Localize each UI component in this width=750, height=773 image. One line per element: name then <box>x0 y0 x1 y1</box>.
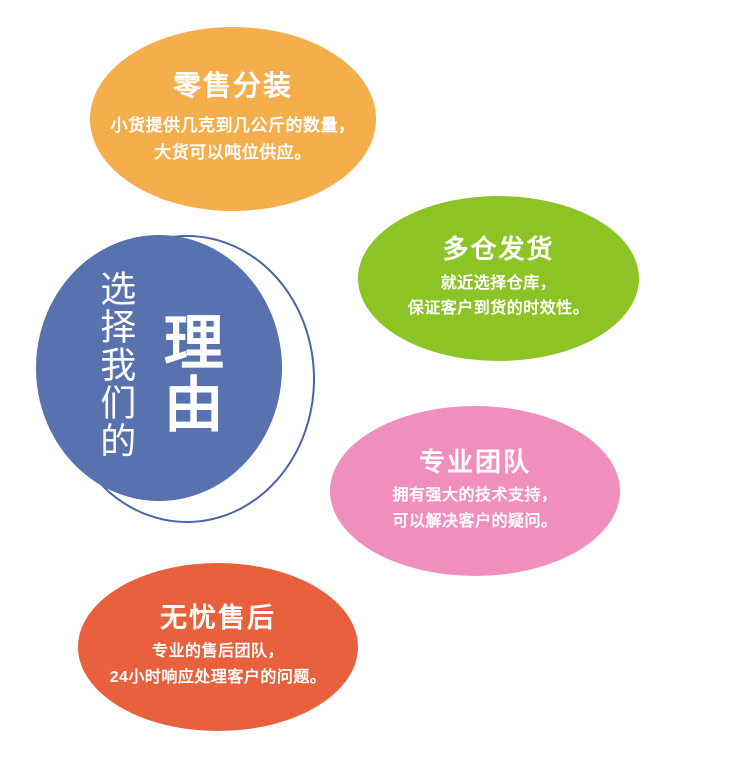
infographic-canvas: 零售分装 小货提供几克到几公斤的数量， 大货可以吨位供应。 多仓发货 就近选择仓… <box>0 0 750 773</box>
hero-text-group: 选择我们的 理由 <box>36 235 282 501</box>
bubble-warehouse-description: 就近选择仓库， 保证客户到货的时效性。 <box>408 271 590 322</box>
bubble-warehouse-line-2: 保证客户到货的时效性。 <box>408 296 590 322</box>
bubble-multi-warehouse-shipping: 多仓发货 就近选择仓库， 保证客户到货的时效性。 <box>358 196 639 361</box>
bubble-retail-description: 小货提供几克到几公斤的数量， 大货可以吨位供应。 <box>111 112 356 167</box>
bubble-aftersales-line-2: 24小时响应处理客户的问题。 <box>110 665 327 691</box>
bubble-retail-line-2: 大货可以吨位供应。 <box>111 139 356 167</box>
bubble-team-line-2: 可以解决客户的疑问。 <box>392 509 557 535</box>
bubble-warehouse-line-1: 就近选择仓库， <box>408 271 590 297</box>
hero-circle: 选择我们的 理由 <box>28 228 328 533</box>
bubble-team-description: 拥有强大的技术支持， 可以解决客户的疑问。 <box>392 483 557 534</box>
hero-title: 理由 <box>154 311 223 435</box>
bubble-retail-packaging: 零售分装 小货提供几克到几公斤的数量， 大货可以吨位供应。 <box>90 27 376 211</box>
bubble-team-line-1: 拥有强大的技术支持， <box>392 483 557 509</box>
bubble-retail-title: 零售分装 <box>173 71 293 102</box>
bubble-aftersales-description: 专业的售后团队， 24小时响应处理客户的问题。 <box>110 639 327 690</box>
bubble-worry-free-after-sales: 无忧售后 专业的售后团队， 24小时响应处理客户的问题。 <box>78 563 358 731</box>
bubble-professional-team: 专业团队 拥有强大的技术支持， 可以解决客户的疑问。 <box>330 406 620 576</box>
bubble-warehouse-title: 多仓发货 <box>442 235 554 264</box>
hero-subtitle: 选择我们的 <box>95 270 136 460</box>
bubble-aftersales-title: 无忧售后 <box>160 604 276 634</box>
bubble-team-title: 专业团队 <box>419 448 531 477</box>
bubble-retail-line-1: 小货提供几克到几公斤的数量， <box>111 112 356 140</box>
bubble-aftersales-line-1: 专业的售后团队， <box>110 639 327 665</box>
